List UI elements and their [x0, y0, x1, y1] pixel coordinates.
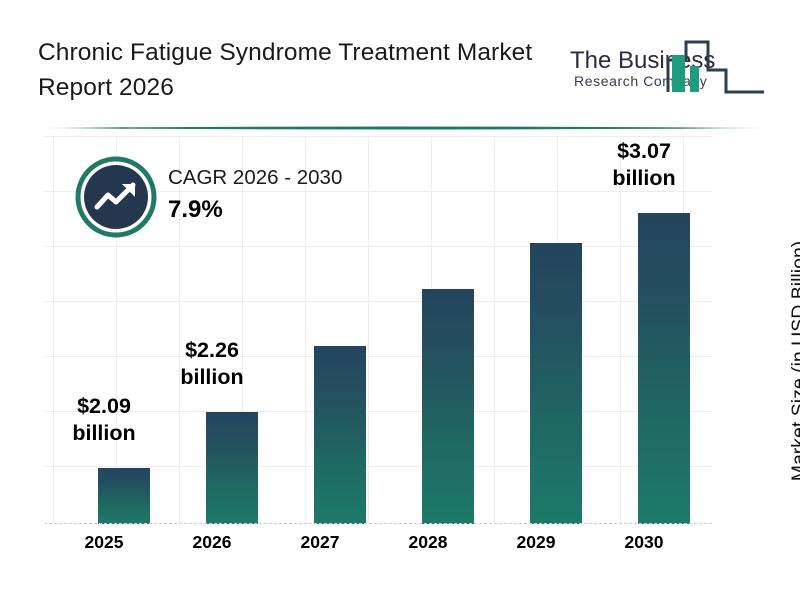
value-label-2025: $2.09 billion: [48, 393, 160, 446]
logo-bar-green-1: [672, 55, 685, 92]
xtick-2030: 2030: [588, 532, 700, 553]
bar-2030[interactable]: [638, 213, 690, 524]
axis-baseline: [44, 522, 712, 524]
cagr-value-label: 7.9%: [168, 196, 342, 224]
cagr-disc: [84, 165, 148, 229]
y-axis-label: Market Size (in USD Billion): [788, 196, 800, 526]
bar-2029[interactable]: [530, 243, 582, 524]
xtick-2025: 2025: [48, 532, 160, 553]
xtick-2029: 2029: [480, 532, 592, 553]
company-logo: The Business Research Company: [568, 30, 776, 102]
logo-bar-green-2: [690, 66, 699, 92]
value-unit: billion: [156, 364, 268, 391]
xtick-2026: 2026: [156, 532, 268, 553]
value-amount: $2.09: [48, 393, 160, 420]
chart-canvas: Chronic Fatigue Syndrome Treatment Marke…: [0, 0, 800, 600]
cagr-text-block: CAGR 2026 - 2030 7.9%: [168, 166, 342, 224]
header-divider: [30, 126, 772, 129]
cagr-badge-icon: [75, 156, 157, 238]
value-label-2026: $2.26 billion: [156, 337, 268, 390]
value-amount: $2.26: [156, 337, 268, 364]
cagr-range-label: CAGR 2026 - 2030: [168, 166, 342, 190]
value-unit: billion: [588, 165, 700, 192]
bar-2027[interactable]: [314, 346, 366, 524]
xtick-2028: 2028: [372, 532, 484, 553]
logo-text-line2: Research Company: [574, 73, 707, 89]
bar-2025[interactable]: [98, 468, 150, 524]
value-amount: $3.07: [588, 138, 700, 165]
bar-2028[interactable]: [422, 289, 474, 524]
bar-2026[interactable]: [206, 412, 258, 524]
page-title: Chronic Fatigue Syndrome Treatment Marke…: [38, 36, 558, 106]
value-unit: billion: [48, 420, 160, 447]
value-label-2030: $3.07 billion: [588, 138, 700, 191]
xtick-2027: 2027: [264, 532, 376, 553]
